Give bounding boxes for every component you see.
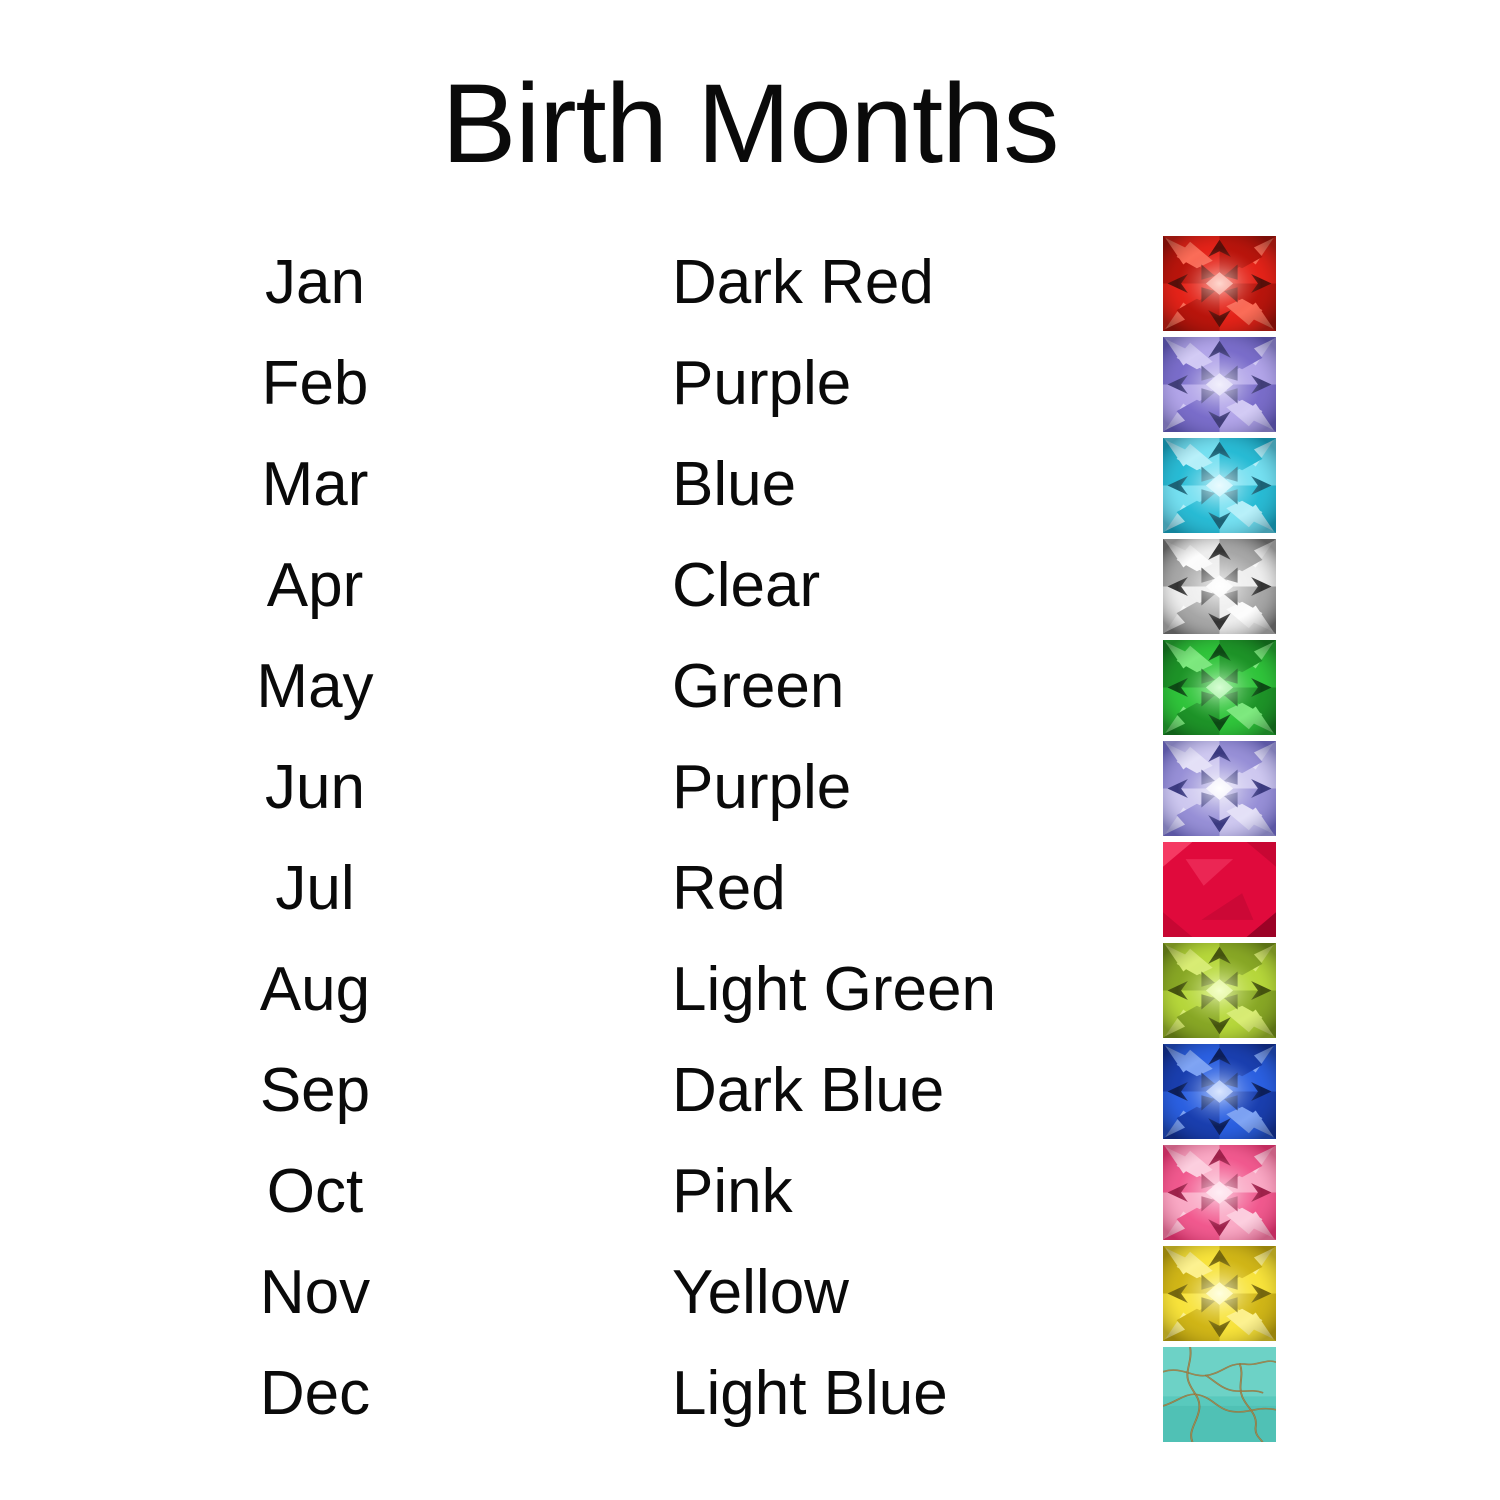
- table-row: FebPurple: [0, 333, 1500, 434]
- gem-facets: [1163, 236, 1276, 331]
- diamond-gem: [1163, 539, 1276, 634]
- table-row: MayGreen: [0, 636, 1500, 737]
- gem-facets: [1163, 640, 1276, 735]
- color-label: Yellow: [672, 1242, 1132, 1343]
- peridot-gem: [1163, 943, 1276, 1038]
- gem-facets: [1163, 943, 1276, 1038]
- table-row: NovYellow: [0, 1242, 1500, 1343]
- month-label: Jun: [180, 737, 450, 838]
- color-label: Dark Blue: [672, 1040, 1132, 1141]
- color-label: Green: [672, 636, 1132, 737]
- month-label: Jan: [180, 232, 450, 333]
- sapphire-gem: [1163, 1044, 1276, 1139]
- month-label: Apr: [180, 535, 450, 636]
- table-row: AprClear: [0, 535, 1500, 636]
- emerald-gem: [1163, 640, 1276, 735]
- table-row: MarBlue: [0, 434, 1500, 535]
- color-label: Red: [672, 838, 1132, 939]
- citrine-gem: [1163, 1246, 1276, 1341]
- color-label: Purple: [672, 333, 1132, 434]
- color-label: Clear: [672, 535, 1132, 636]
- table-row: JulRed: [0, 838, 1500, 939]
- month-label: May: [180, 636, 450, 737]
- color-label: Light Green: [672, 939, 1132, 1040]
- ruby-gem: [1163, 842, 1276, 937]
- month-label: Nov: [180, 1242, 450, 1343]
- color-label: Purple: [672, 737, 1132, 838]
- gem-facets: [1163, 539, 1276, 634]
- birth-months-table: JanDark RedFebPurpleMarBlueAprClearMayGr…: [0, 232, 1500, 1444]
- tourmaline-gem: [1163, 1145, 1276, 1240]
- page-title: Birth Months: [0, 68, 1500, 180]
- gem-facets: [1163, 741, 1276, 836]
- month-label: Mar: [180, 434, 450, 535]
- turquoise-gem: [1163, 1347, 1276, 1442]
- table-row: OctPink: [0, 1141, 1500, 1242]
- gem-facets: [1163, 1044, 1276, 1139]
- table-row: JunPurple: [0, 737, 1500, 838]
- alexandrite-gem: [1163, 741, 1276, 836]
- gem-facets: [1163, 337, 1276, 432]
- color-label: Light Blue: [672, 1343, 1132, 1444]
- month-label: Jul: [180, 838, 450, 939]
- color-label: Dark Red: [672, 232, 1132, 333]
- table-row: DecLight Blue: [0, 1343, 1500, 1444]
- gem-facets: [1163, 1246, 1276, 1341]
- gem-facets: [1163, 1145, 1276, 1240]
- aquamarine-gem: [1163, 438, 1276, 533]
- amethyst-gem: [1163, 337, 1276, 432]
- gem-facets: [1163, 842, 1276, 937]
- garnet-gem: [1163, 236, 1276, 331]
- month-label: Sep: [180, 1040, 450, 1141]
- month-label: Oct: [180, 1141, 450, 1242]
- table-row: SepDark Blue: [0, 1040, 1500, 1141]
- birth-months-page: Birth Months JanDark RedFebPurpleMarBlue…: [0, 0, 1500, 1500]
- gem-matrix: [1163, 1347, 1276, 1442]
- month-label: Aug: [180, 939, 450, 1040]
- month-label: Dec: [180, 1343, 450, 1444]
- color-label: Pink: [672, 1141, 1132, 1242]
- gem-facets: [1163, 438, 1276, 533]
- table-row: JanDark Red: [0, 232, 1500, 333]
- table-row: AugLight Green: [0, 939, 1500, 1040]
- month-label: Feb: [180, 333, 450, 434]
- color-label: Blue: [672, 434, 1132, 535]
